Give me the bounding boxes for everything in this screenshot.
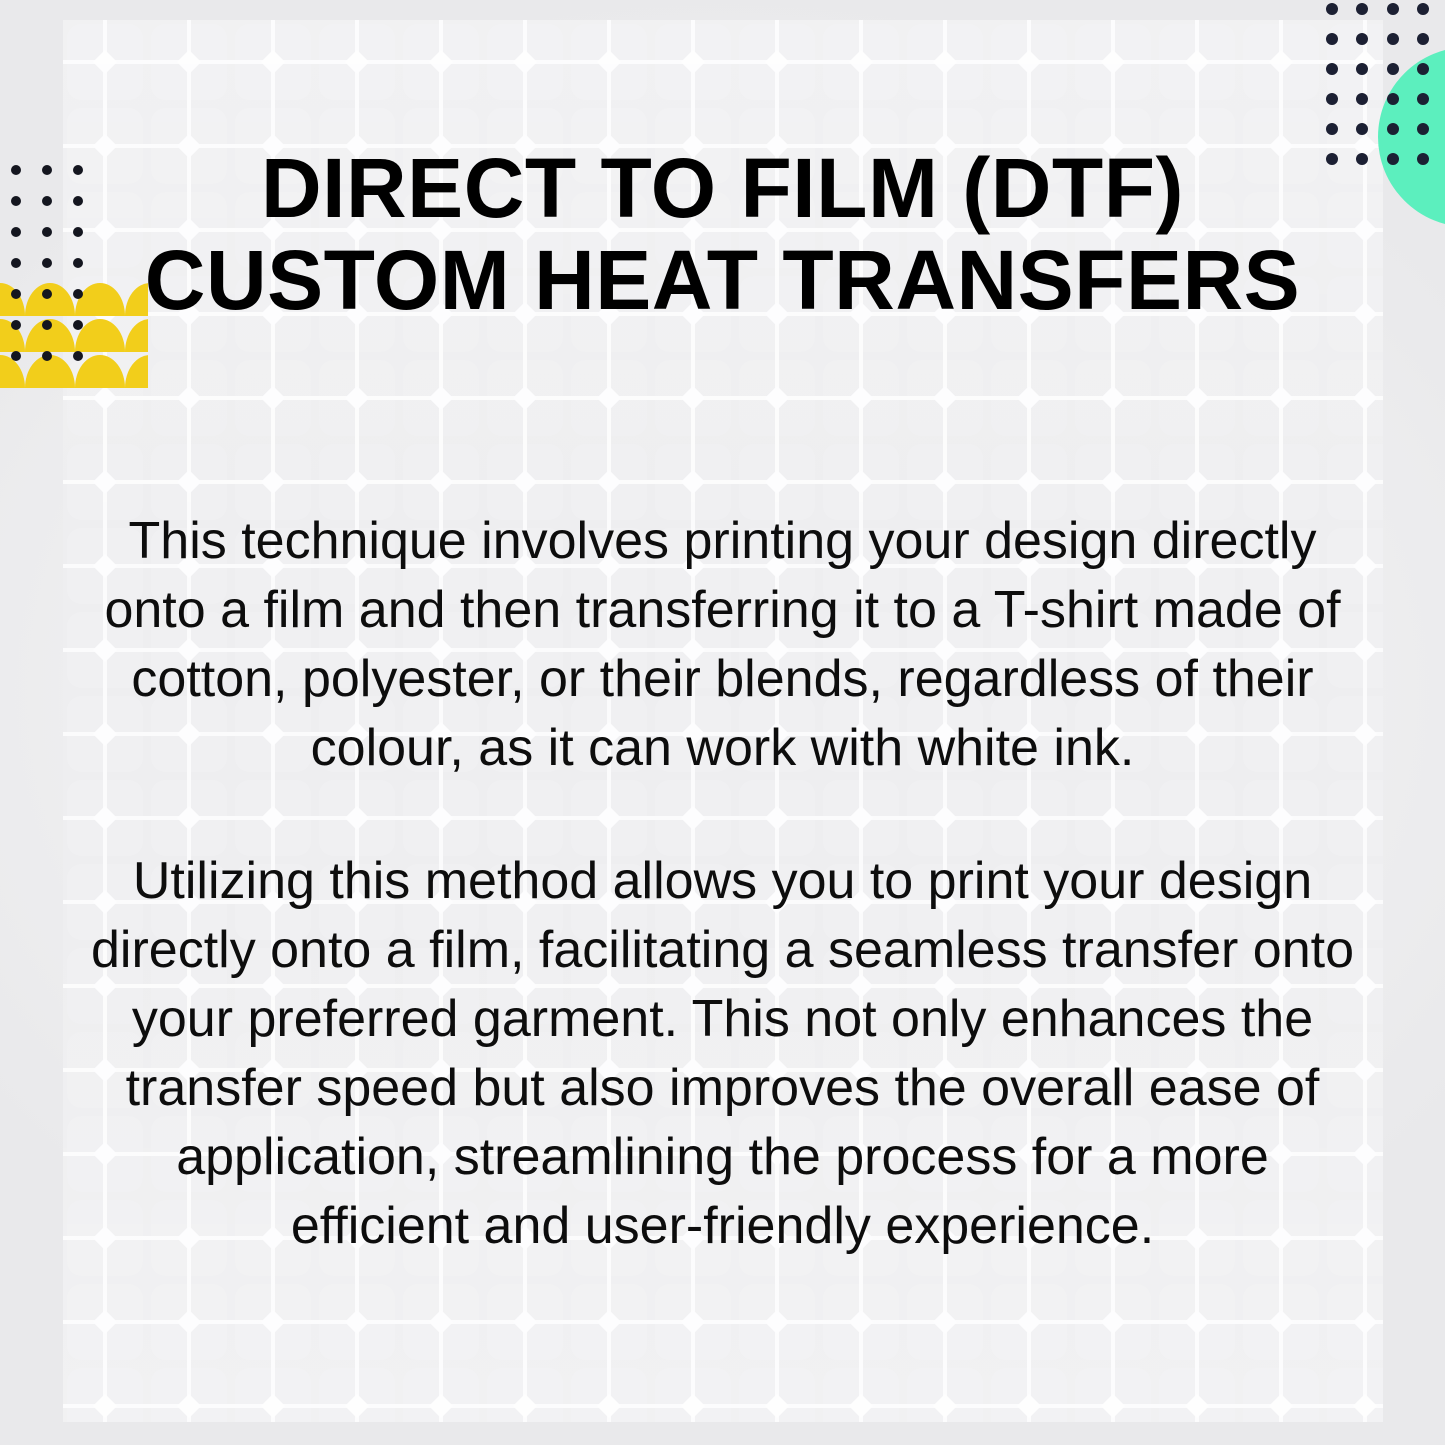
dot-grid-left: [10, 163, 90, 363]
dot-grid-right: [1325, 1, 1435, 171]
poster-canvas: DIRECT TO FILM (DTF) CUSTOM HEAT TRANSFE…: [0, 0, 1445, 1445]
tile-grid: [63, 20, 1383, 1422]
